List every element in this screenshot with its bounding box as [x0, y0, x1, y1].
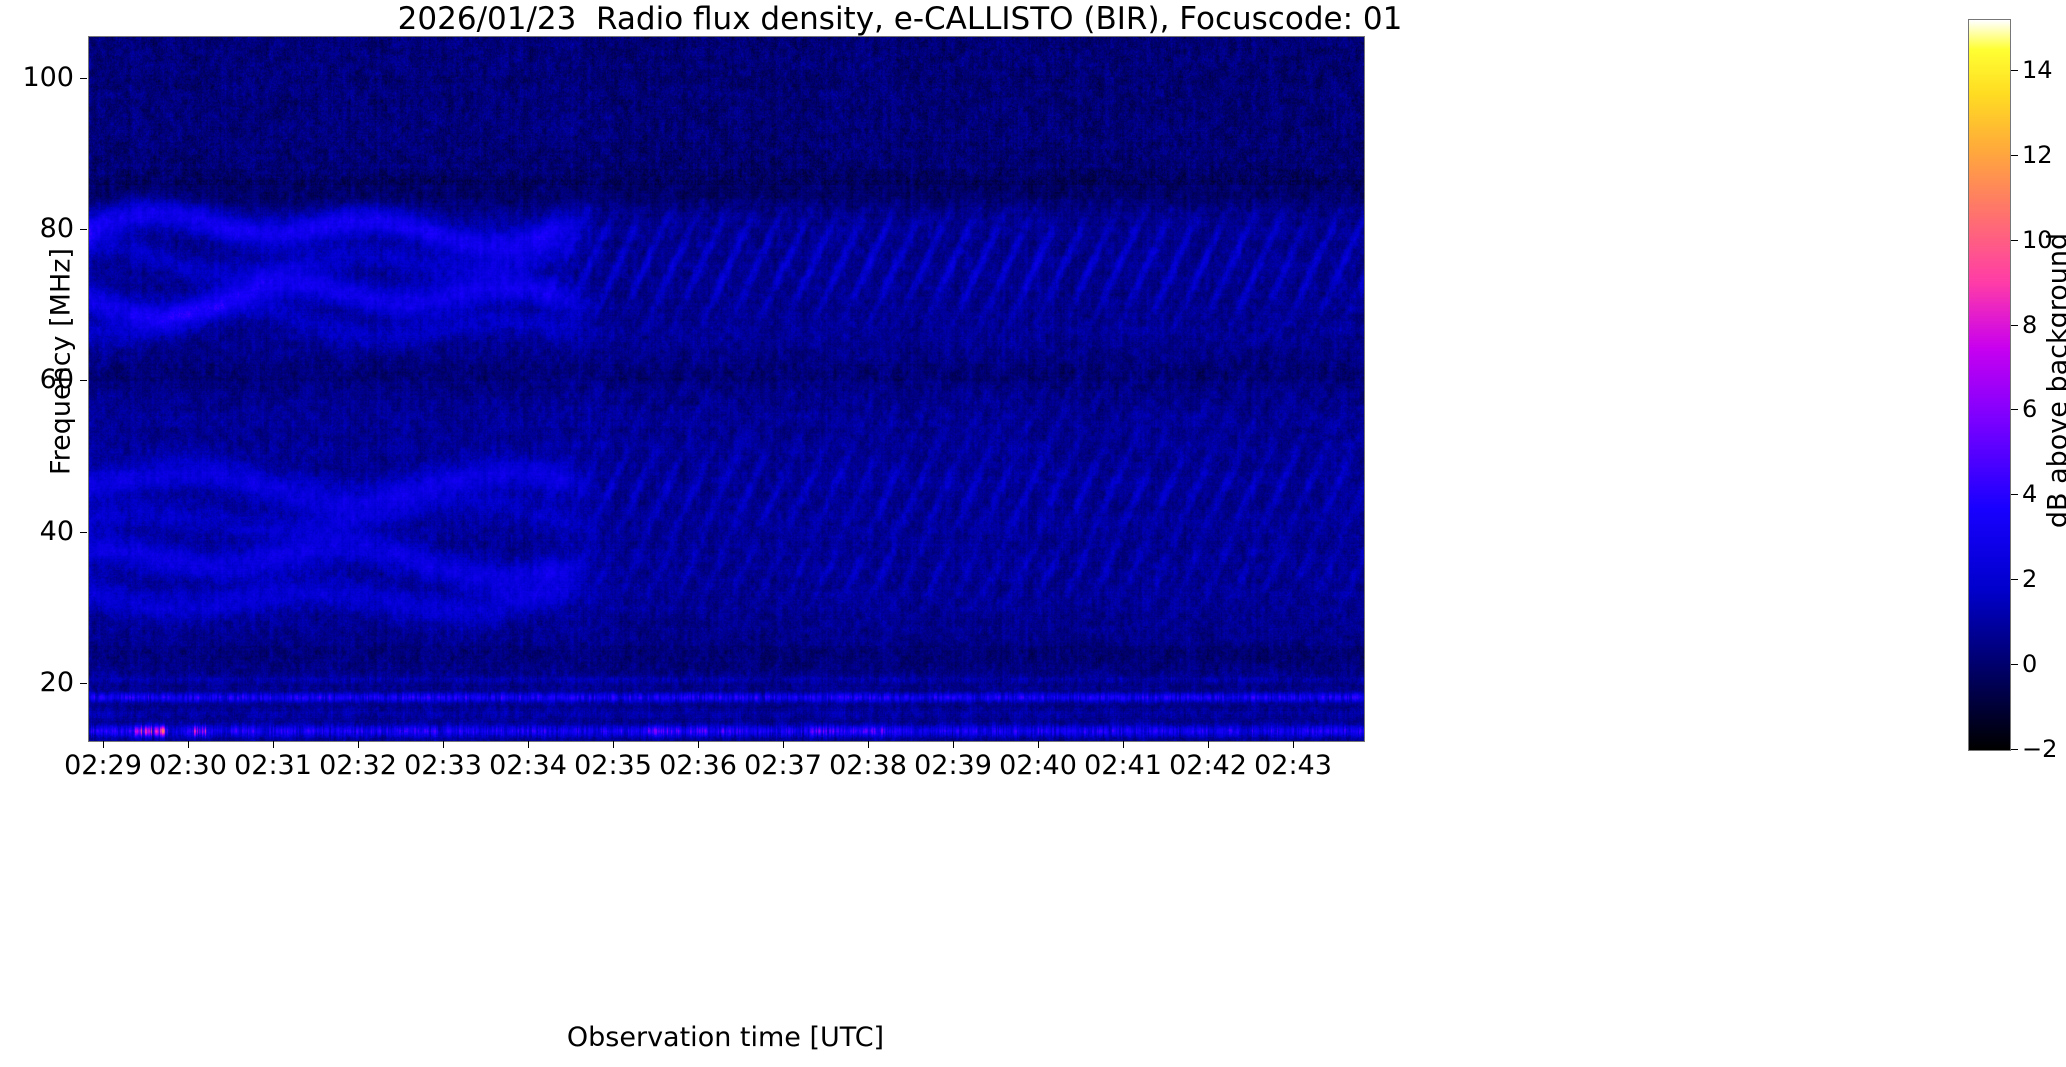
colorbar-tick-mark — [2011, 325, 2018, 326]
y-tick-label: 60 — [0, 364, 74, 395]
x-tick-mark — [273, 741, 274, 748]
y-tick-mark — [80, 78, 87, 79]
colorbar — [1968, 19, 2011, 751]
y-tick-label: 40 — [0, 516, 74, 547]
spectrogram-figure: 2026/01/23 Radio flux density, e-CALLIST… — [0, 0, 2066, 1067]
x-tick-mark — [1208, 741, 1209, 748]
x-tick-mark — [358, 741, 359, 748]
x-tick-mark — [783, 741, 784, 748]
colorbar-tick-mark — [2011, 664, 2018, 665]
colorbar-tick-mark — [2011, 409, 2018, 410]
colorbar-tick-mark — [2011, 70, 2018, 71]
x-tick-label: 02:43 — [1213, 750, 1373, 781]
y-tick-label: 100 — [0, 62, 74, 93]
y-tick-mark — [80, 683, 87, 684]
colorbar-tick-mark — [2011, 494, 2018, 495]
y-tick-mark — [80, 532, 87, 533]
y-tick-label: 20 — [0, 667, 74, 698]
x-tick-mark — [1038, 741, 1039, 748]
colorbar-tick-mark — [2011, 155, 2018, 156]
x-tick-mark — [1123, 741, 1124, 748]
colorbar-gradient — [1969, 20, 2010, 750]
x-tick-mark — [1293, 741, 1294, 748]
colorbar-label: dB above background — [2043, 16, 2066, 746]
x-tick-mark — [528, 741, 529, 748]
page-title: 2026/01/23 Radio flux density, e-CALLIST… — [0, 2, 1800, 36]
spectrogram-axes — [88, 36, 1365, 742]
y-tick-mark — [80, 229, 87, 230]
x-tick-mark — [613, 741, 614, 748]
x-tick-mark — [103, 741, 104, 748]
y-tick-label: 80 — [0, 213, 74, 244]
y-tick-mark — [80, 380, 87, 381]
colorbar-tick-mark — [2011, 749, 2018, 750]
x-tick-mark — [698, 741, 699, 748]
x-tick-mark — [953, 741, 954, 748]
colorbar-tick-mark — [2011, 240, 2018, 241]
colorbar-tick-mark — [2011, 579, 2018, 580]
x-axis-label: Observation time [UTC] — [88, 1022, 1363, 1053]
y-axis-label: Frequency [MHz] — [46, 12, 77, 712]
spectrogram-heatmap — [89, 37, 1364, 741]
x-tick-mark — [443, 741, 444, 748]
x-tick-mark — [868, 741, 869, 748]
x-tick-mark — [188, 741, 189, 748]
